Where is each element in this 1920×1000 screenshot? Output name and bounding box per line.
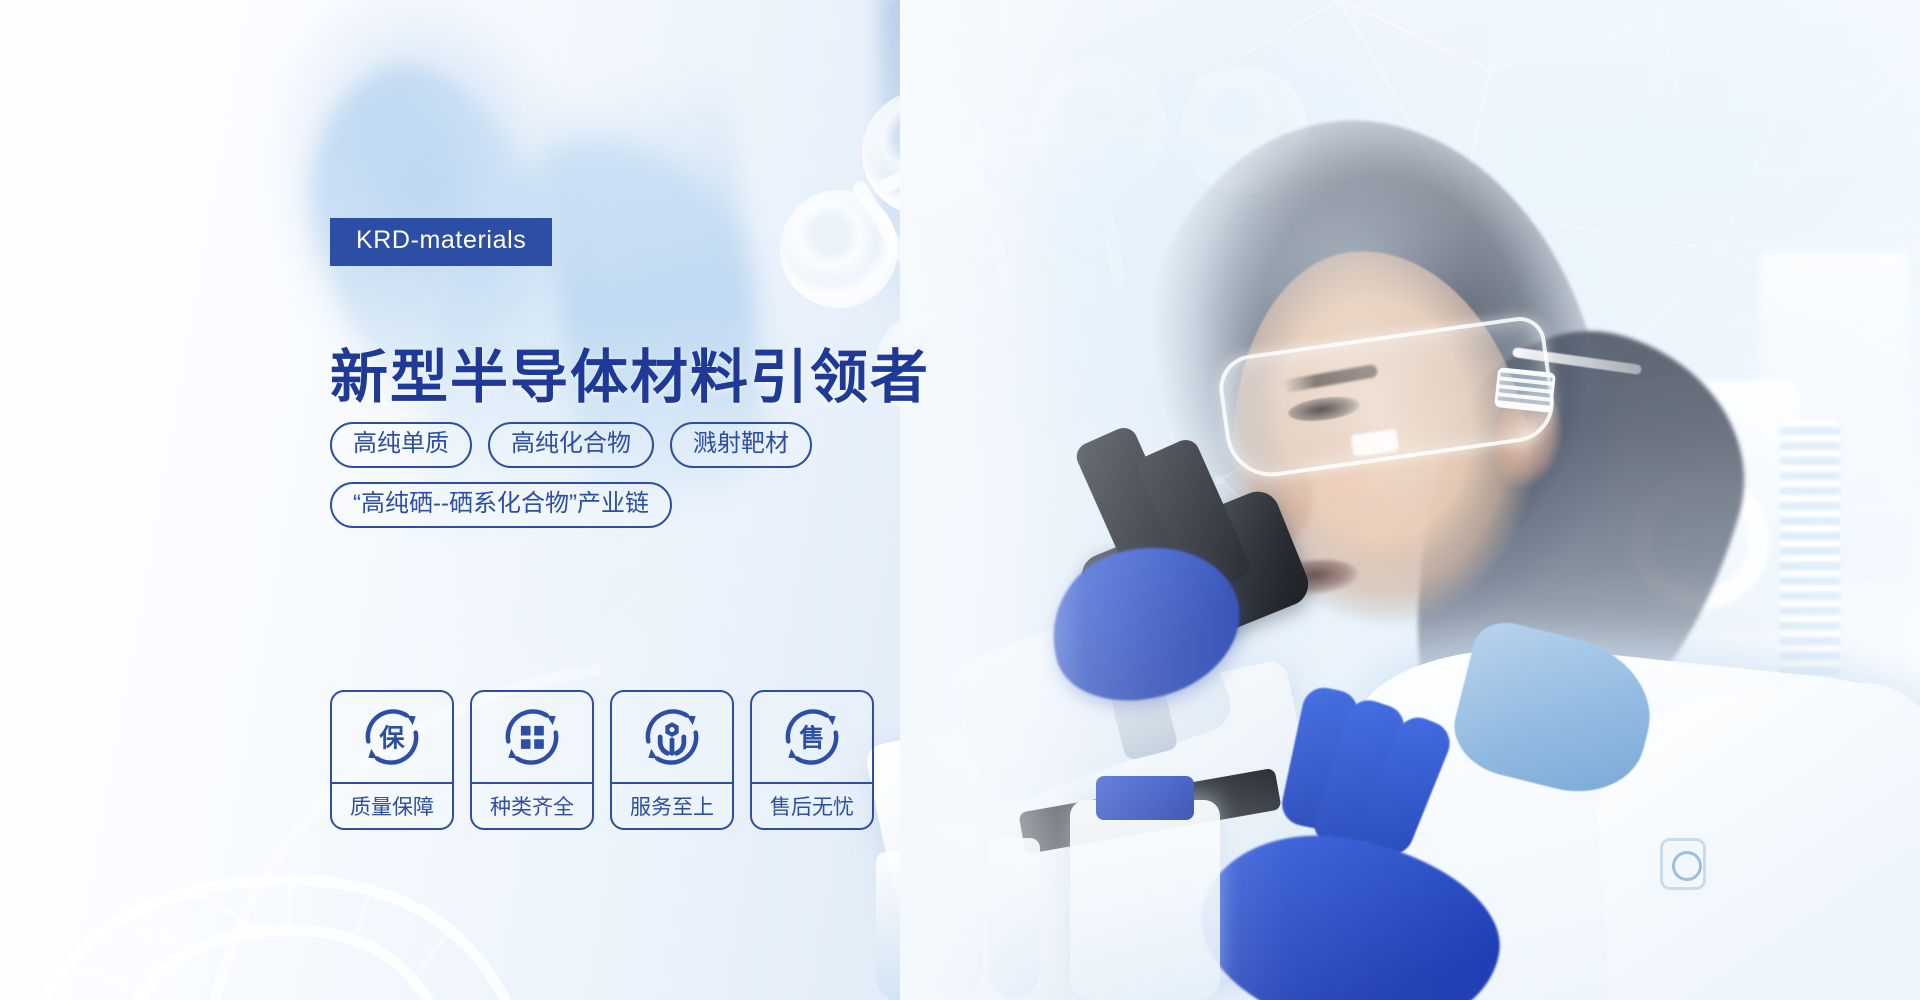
- tag-row-secondary: “高纯硒--硒系化合物”产业链: [330, 482, 672, 528]
- safety-goggles: [1215, 314, 1559, 483]
- microscope-stage: [1018, 768, 1281, 855]
- tag-pure-compound[interactable]: 高纯化合物: [488, 422, 654, 468]
- service-first-hands-icon: [612, 692, 732, 784]
- microscope-eyepiece-right: [1134, 435, 1253, 598]
- eye: [1287, 393, 1361, 425]
- gloved-finger-c: [1354, 711, 1457, 861]
- eyebrow: [1282, 364, 1379, 393]
- svg-text:售: 售: [799, 724, 824, 753]
- goggles-vent: [1494, 367, 1556, 413]
- shirt-collar: [1445, 615, 1666, 807]
- lab-equipment-ghost: [1620, 380, 1800, 630]
- hair-highlight: [1165, 110, 1565, 489]
- lab-monitor-ghost: [1760, 250, 1910, 580]
- polygon-network-overlay: [1160, 0, 1920, 580]
- reagent-bottle-cap: [1096, 776, 1194, 820]
- coat-badge-clip: [1660, 838, 1706, 890]
- feature-label: 售后无忧: [752, 784, 872, 828]
- gloved-finger-a: [1278, 684, 1362, 833]
- feature-quality-guarantee[interactable]: 保 质量保障: [330, 690, 454, 830]
- shoulder: [1589, 679, 1920, 1000]
- hero-banner: KRD-materials 新型半导体材料引领者 高纯单质 高纯化合物 溅射靶材…: [0, 0, 1920, 1000]
- page-title: 新型半导体材料引领者: [330, 330, 930, 414]
- gloved-hand-upper: [1033, 525, 1257, 722]
- feature-after-sales[interactable]: 售 售后无忧: [750, 690, 874, 830]
- svg-text:保: 保: [378, 724, 405, 753]
- hair-ponytail: [1362, 298, 1777, 823]
- full-category-grid-icon: [472, 692, 592, 784]
- microscope-eyepiece-left: [1072, 423, 1191, 586]
- gloved-finger-b: [1308, 695, 1410, 856]
- lab-rack-ghost: [1780, 420, 1840, 680]
- goggles-strap: [1512, 347, 1642, 375]
- ear: [1486, 387, 1570, 495]
- microscope-head: [1075, 485, 1315, 675]
- feature-label: 服务至上: [612, 784, 732, 828]
- scientist-microscope-photo: [900, 0, 1920, 1000]
- gloved-hand-lower: [1186, 815, 1514, 1000]
- hero-content: KRD-materials 新型半导体材料引领者 高纯单质 高纯化合物 溅射靶材…: [0, 0, 1000, 1000]
- hair: [1089, 87, 1641, 714]
- nose: [1252, 450, 1312, 542]
- feature-service-first[interactable]: 服务至上: [610, 690, 734, 830]
- cheek: [1272, 390, 1422, 550]
- quality-guarantee-icon: 保: [332, 692, 452, 784]
- goggles-glint: [1351, 429, 1400, 457]
- tag-pure-element[interactable]: 高纯单质: [330, 422, 472, 468]
- tag-sputtering-target[interactable]: 溅射靶材: [670, 422, 812, 468]
- feature-label: 质量保障: [332, 784, 452, 828]
- face: [1207, 233, 1554, 667]
- lips: [1271, 556, 1360, 597]
- feature-label: 种类齐全: [472, 784, 592, 828]
- feature-list: 保 质量保障: [330, 690, 874, 830]
- tag-selenium-industry-chain[interactable]: “高纯硒--硒系化合物”产业链: [330, 482, 672, 528]
- reagent-bottle: [1070, 800, 1220, 1000]
- feature-full-category[interactable]: 种类齐全: [470, 690, 594, 830]
- microscope-objective: [1103, 655, 1179, 761]
- brand-badge: KRD-materials: [330, 218, 552, 266]
- lab-coat: [1320, 629, 1920, 1000]
- tag-row-primary: 高纯单质 高纯化合物 溅射靶材: [330, 422, 812, 468]
- lab-ring-ghost: [1630, 470, 1770, 610]
- after-sales-icon: 售: [752, 692, 872, 784]
